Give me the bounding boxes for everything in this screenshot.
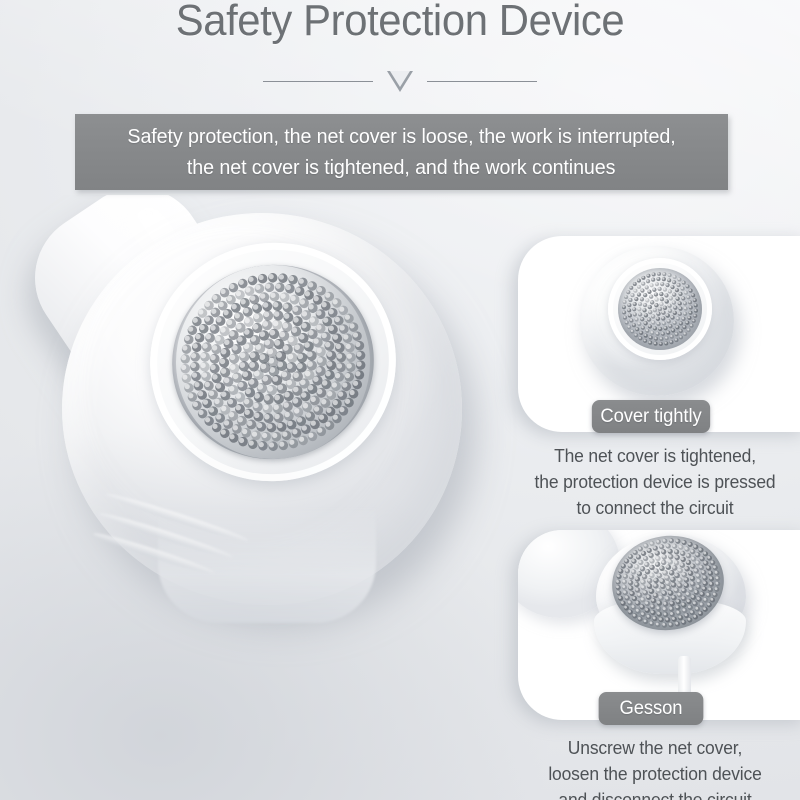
- mini-net-cover-ring: [608, 258, 712, 360]
- divider-rule-left: [263, 81, 373, 82]
- banner-line-2: the net cover is tightened, and the work…: [187, 152, 615, 183]
- page-title: Safety Protection Device: [20, 0, 780, 46]
- caption-line: to connect the circuit: [510, 495, 800, 521]
- description-banner: Safety protection, the net cover is loos…: [75, 114, 728, 190]
- banner-line-1: Safety protection, the net cover is loos…: [127, 121, 675, 152]
- caption-cover-loose: Unscrew the net cover, loosen the protec…: [510, 735, 800, 800]
- divider: [0, 64, 800, 98]
- caption-line: and disconnect the circuit: [510, 787, 800, 800]
- caption-line: the protection device is pressed: [510, 469, 800, 495]
- mini-mesh-disc: [618, 268, 702, 350]
- badge-gesson: Gesson: [599, 692, 704, 725]
- divider-rule-right: [427, 81, 537, 82]
- caption-cover-tight: The net cover is tightened, the protecti…: [510, 443, 800, 521]
- mini-head: [580, 246, 734, 396]
- badge-cover-tightly: Cover tightly: [592, 400, 710, 433]
- product-feature-image: Safety Protection Device Safety protecti…: [0, 0, 800, 800]
- caption-line: The net cover is tightened,: [510, 443, 800, 469]
- caption-line: Unscrew the net cover,: [510, 735, 800, 761]
- mini-mesh-holes-pattern: [618, 268, 702, 350]
- caption-line: loosen the protection device: [510, 761, 800, 787]
- triangle-down-icon: [387, 71, 413, 92]
